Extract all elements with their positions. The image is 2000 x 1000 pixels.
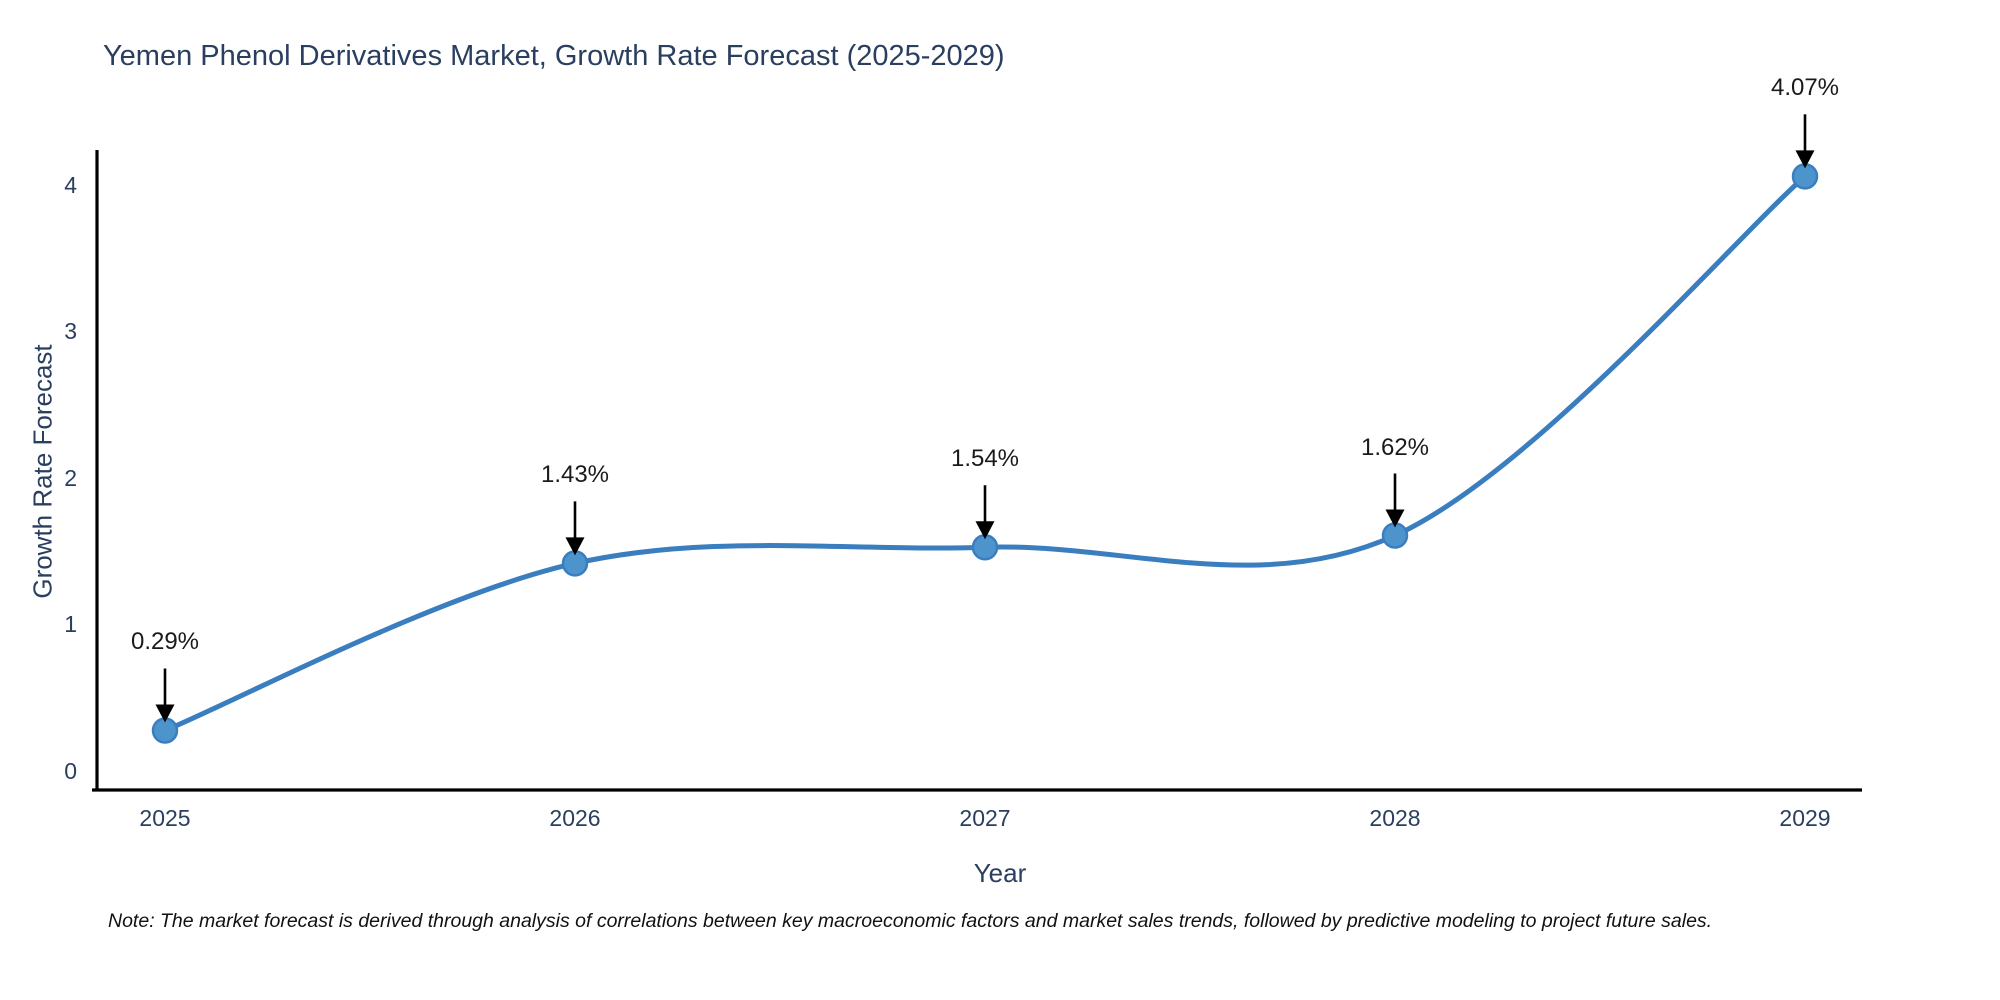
y-axis-tick-label: 1 [17,611,77,638]
annotation-arrows [156,114,1815,722]
x-axis-tick-label: 2028 [1325,805,1465,832]
y-axis-tick-label: 2 [17,465,77,492]
x-axis-tick-label: 2026 [505,805,645,832]
data-point-value-label: 4.07% [1725,74,1885,102]
line-chart-plot [0,0,2000,1000]
x-axis-tick-label: 2027 [915,805,1055,832]
chart-footnote: Note: The market forecast is derived thr… [108,910,1712,933]
chart-figure: Yemen Phenol Derivatives Market, Growth … [0,0,2000,1000]
data-point-value-label: 0.29% [85,628,245,656]
data-point-value-label: 1.62% [1315,434,1475,462]
x-axis-tick-label: 2025 [95,805,235,832]
y-axis-tick-label: 4 [17,172,77,199]
x-axis-title: Year [0,858,2000,889]
y-axis-tick-label: 3 [17,318,77,345]
y-axis-tick-label: 0 [17,758,77,785]
x-axis-tick-label: 2029 [1735,805,1875,832]
data-point-value-label: 1.43% [495,461,655,489]
data-point-value-label: 1.54% [905,445,1065,473]
